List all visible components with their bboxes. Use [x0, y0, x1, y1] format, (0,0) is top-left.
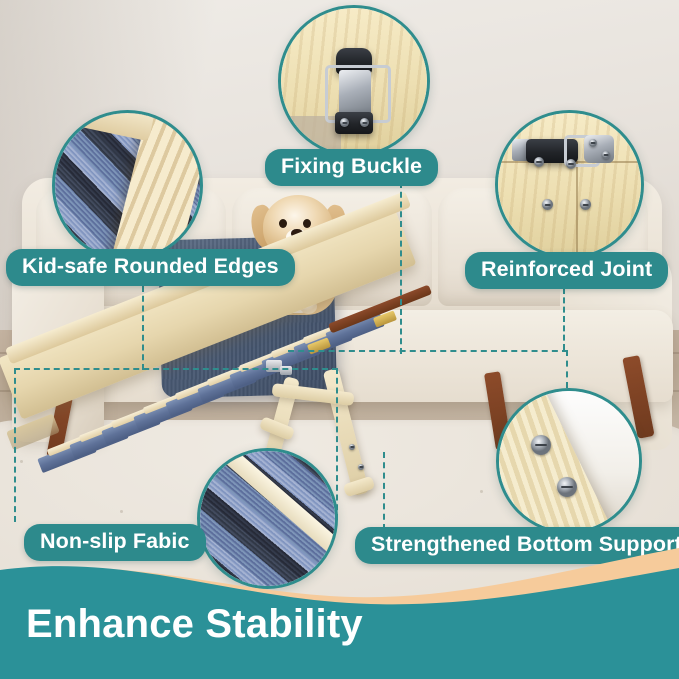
guide-line-kid-safe	[142, 286, 144, 370]
callout-photo-reinforced-joint	[495, 110, 644, 259]
guide-line-strengthened-supports-right	[566, 350, 568, 388]
guide-line-strengthened-supports-top	[288, 350, 568, 352]
joint-screw	[580, 199, 591, 210]
banner-headline: Enhance Stability	[26, 602, 363, 647]
joint-screw	[602, 151, 610, 159]
joint-screw	[542, 199, 553, 210]
buckle-screw	[360, 118, 369, 127]
dog-eye-right	[303, 219, 311, 228]
guide-line-reinforced-joint	[563, 288, 565, 350]
joint-screw	[589, 139, 597, 147]
ramp-screw	[358, 464, 364, 470]
infographic-canvas: Kid-safe Rounded Edges Fixing Buckle Rei…	[0, 0, 679, 679]
buckle-screw	[340, 118, 349, 127]
callout-photo-fixing-buckle	[278, 5, 430, 157]
joint-latch-baseplate	[584, 135, 614, 163]
callout-photo-kid-safe-rounded-edges	[52, 110, 203, 261]
support-bolt-upper	[531, 435, 551, 455]
joint-screw	[534, 157, 544, 167]
ramp-screw	[349, 444, 355, 450]
label-kid-safe-rounded-edges: Kid-safe Rounded Edges	[6, 249, 295, 286]
guide-line-fixing-buckle	[400, 182, 402, 354]
guide-line-strengthened-supports-down	[383, 452, 385, 530]
support-bolt-lower	[557, 477, 577, 497]
callout-photo-strengthened-bottom-supports	[496, 388, 642, 534]
label-reinforced-joint: Reinforced Joint	[465, 252, 668, 289]
label-fixing-buckle: Fixing Buckle	[265, 149, 438, 186]
joint-screw	[566, 159, 576, 169]
guide-line-non-slip-fabic	[336, 368, 338, 520]
dog-eye-left	[279, 219, 287, 228]
